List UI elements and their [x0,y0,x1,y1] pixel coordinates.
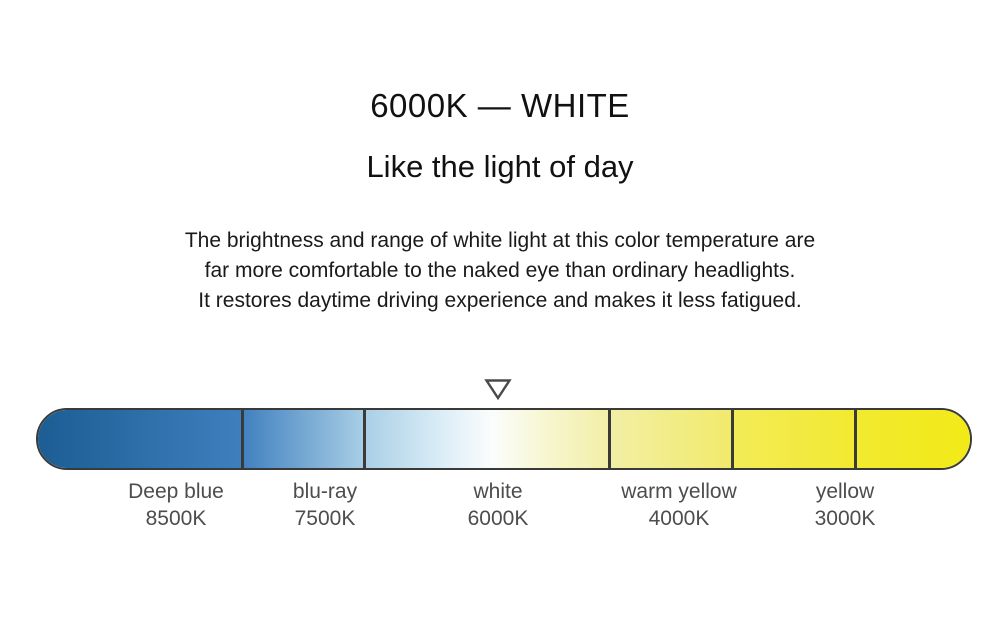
scale-label-temperature: 4000K [599,505,759,533]
segment-warm-yellow [610,410,733,468]
scale-label-temperature: 6000K [418,505,578,533]
scale-label-blu-ray: blu-ray 7500K [245,478,405,533]
scale-label-warm-yellow: warm yellow 4000K [599,478,759,533]
page-subtitle: Like the light of day [0,124,1000,184]
description-paragraph: The brightness and range of white light … [60,184,940,316]
scale-label-name: warm yellow [599,478,759,505]
heading-block: 6000K — WHITE Like the light of day [0,0,1000,184]
scale-label-name: white [418,478,578,505]
segment-divider-2 [363,410,366,468]
color-temperature-scale: Deep blue 8500K blu-ray 7500K white 6000… [0,370,1000,550]
segment-divider-1 [241,410,244,468]
segment-divider-4 [731,410,734,468]
scale-label-yellow: yellow 3000K [765,478,925,533]
description-line-2: far more comfortable to the naked eye th… [60,256,940,286]
scale-labels: Deep blue 8500K blu-ray 7500K white 6000… [0,478,1000,540]
segment-yellow [733,410,972,468]
segment-white [365,410,610,468]
segment-divider-3 [608,410,611,468]
scale-label-temperature: 3000K [765,505,925,533]
gradient-bar [36,408,972,470]
segment-deep-blue [38,410,243,468]
scale-label-white: white 6000K [418,478,578,533]
scale-label-name: Deep blue [96,478,256,505]
gradient-bar-track [36,408,972,470]
description-line-1: The brightness and range of white light … [60,226,940,256]
triangle-down-icon [484,378,512,400]
description-line-3: It restores daytime driving experience a… [60,286,940,316]
page-title: 6000K — WHITE [0,88,1000,124]
scale-label-name: blu-ray [245,478,405,505]
scale-label-temperature: 8500K [96,505,256,533]
scale-label-temperature: 7500K [245,505,405,533]
segment-blu-ray [243,410,365,468]
segment-divider-5 [854,410,857,468]
scale-label-name: yellow [765,478,925,505]
scale-label-deep-blue: Deep blue 8500K [96,478,256,533]
